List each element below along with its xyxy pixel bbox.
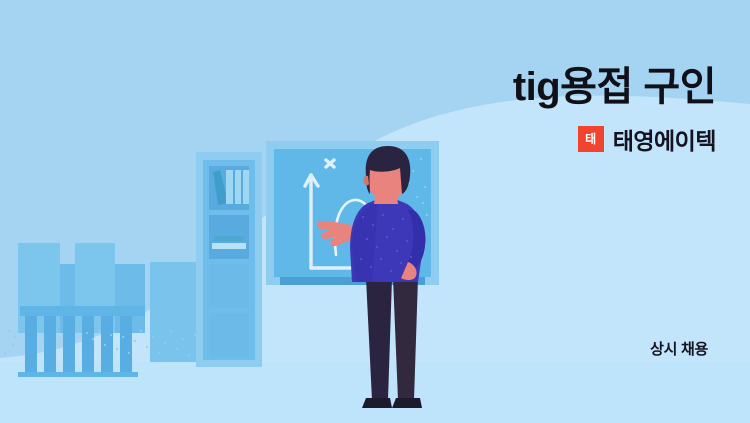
company-logo-badge: 태 [578,126,604,152]
page-title: tig용접 구인 [296,66,716,109]
company-name: 태영에이텍 [613,122,716,156]
job-posting-banner: tig용접 구인 태 태영에이텍 상시 채용 [0,0,750,423]
person-illustration [0,0,750,423]
text-block: tig용접 구인 태 태영에이텍 [296,66,716,156]
status-badge: 상시 채용 [650,338,708,359]
company-row: 태 태영에이텍 [296,122,716,156]
